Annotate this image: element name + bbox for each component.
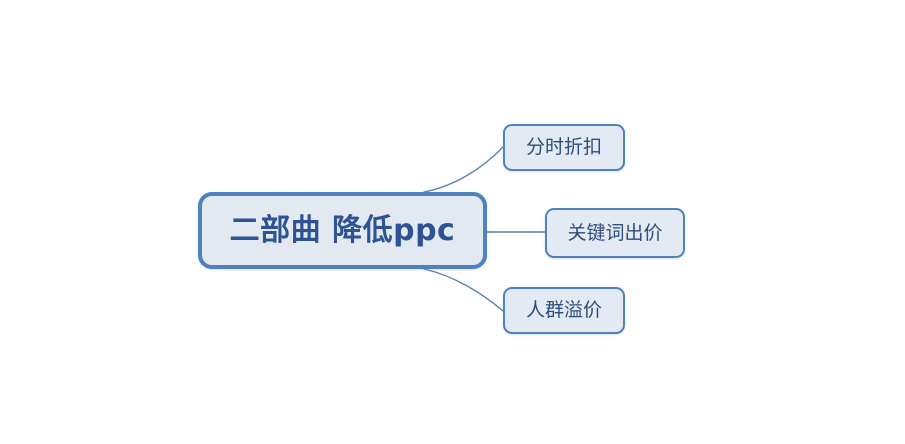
connector-to-child-1 bbox=[424, 147, 503, 192]
child-node-2-label: 关键词出价 bbox=[567, 224, 662, 243]
child-node-3[interactable]: 人群溢价 bbox=[503, 287, 625, 334]
child-node-3-label: 人群溢价 bbox=[526, 301, 602, 320]
root-node[interactable]: 二部曲 降低ppc bbox=[198, 192, 487, 269]
child-node-2[interactable]: 关键词出价 bbox=[545, 208, 685, 258]
child-node-1-label: 分时折扣 bbox=[526, 138, 602, 157]
root-node-label: 二部曲 降低ppc bbox=[230, 216, 456, 246]
connector-to-child-3 bbox=[424, 269, 503, 311]
child-node-1[interactable]: 分时折扣 bbox=[503, 124, 625, 171]
mindmap-canvas: 二部曲 降低ppc 分时折扣 关键词出价 人群溢价 bbox=[0, 0, 905, 444]
